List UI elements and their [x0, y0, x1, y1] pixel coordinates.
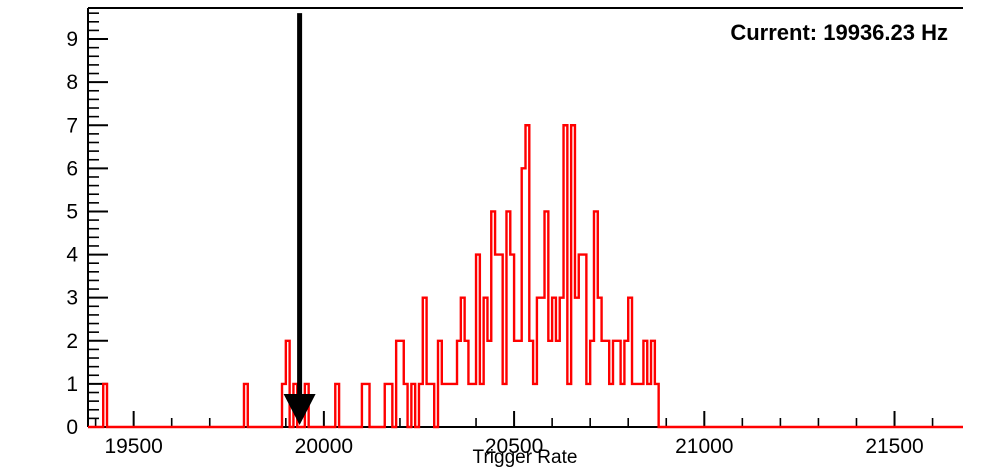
- y-tick-label: 5: [66, 200, 78, 223]
- x-tick-label: 21000: [675, 435, 733, 458]
- y-tick-label: 0: [66, 416, 78, 439]
- histogram-series: [88, 125, 963, 427]
- trigger-rate-chart: 0123456789 1950020000205002100021500 Tri…: [0, 0, 996, 472]
- plot-frame: [88, 8, 963, 427]
- y-tick-label: 9: [66, 28, 78, 51]
- y-tick-label: 2: [66, 330, 78, 353]
- y-tick-label: 3: [66, 287, 78, 310]
- y-axis-tick-labels: 0123456789: [66, 28, 78, 439]
- y-tick-label: 1: [66, 373, 78, 396]
- x-axis-title: Trigger Rate: [473, 447, 578, 468]
- y-axis-ticks: [88, 13, 108, 427]
- x-tick-label: 21500: [865, 435, 923, 458]
- x-tick-label: 19500: [104, 435, 162, 458]
- current-rate-readout: Current: 19936.23 Hz: [730, 20, 948, 45]
- axis-frame: [88, 8, 963, 427]
- y-tick-label: 4: [66, 244, 78, 267]
- y-tick-label: 7: [66, 114, 78, 137]
- current-rate-arrow-head: [284, 394, 316, 425]
- y-tick-label: 6: [66, 157, 78, 180]
- y-tick-label: 8: [66, 71, 78, 94]
- trigger-rate-histogram-panel: 0123456789 1950020000205002100021500 Tri…: [0, 0, 996, 472]
- current-rate-arrow: [284, 13, 316, 425]
- x-axis-ticks: [96, 411, 933, 427]
- x-tick-label: 20000: [295, 435, 353, 458]
